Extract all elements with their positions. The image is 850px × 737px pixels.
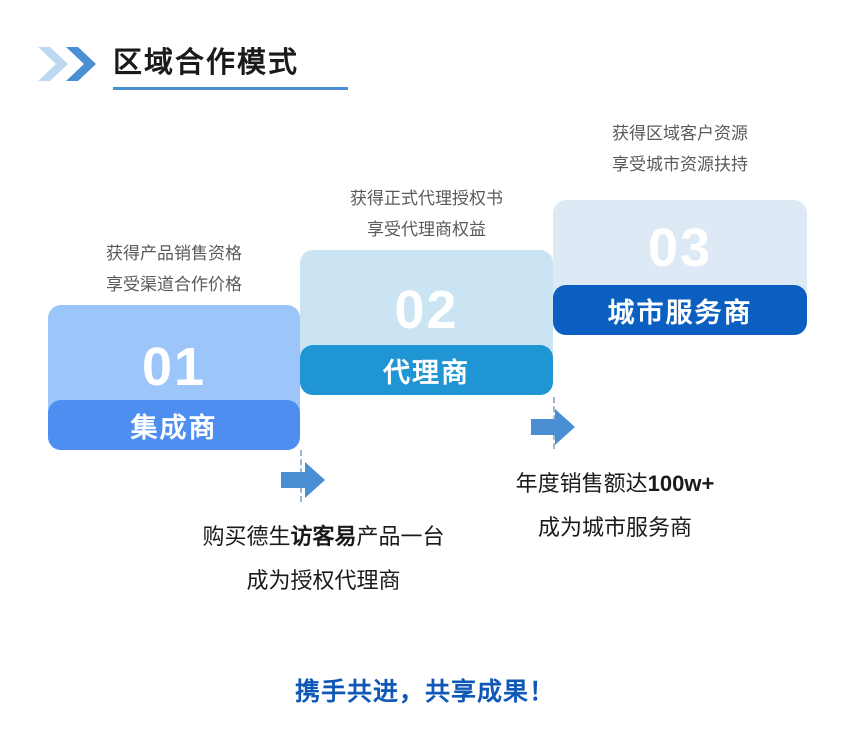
step-role-bar: 城市服务商 [553, 285, 807, 335]
step-card-integrator[interactable]: 01 集成商 [48, 305, 300, 450]
header-chevron-group [36, 45, 110, 83]
step-card-agent[interactable]: 02 代理商 [300, 250, 553, 395]
benefit-line: 享受代理商权益 [300, 214, 553, 245]
benefit-line: 享受渠道合作价格 [48, 269, 300, 300]
step-role-label: 城市服务商 [608, 291, 753, 330]
page-header: 区域合作模式 [0, 0, 850, 110]
transition-description-2: 年度销售额达100w+ 成为城市服务商 [420, 462, 810, 550]
step-role-bar: 集成商 [48, 400, 300, 450]
step-number: 02 [300, 280, 553, 340]
step-card-city-service-provider[interactable]: 03 城市服务商 [553, 200, 807, 335]
transition-line-2: 成为授权代理商 [126, 559, 521, 603]
step-benefits-3: 获得区域客户资源 享受城市资源扶持 [553, 118, 807, 180]
arrow-right-icon [531, 408, 575, 446]
step-role-label: 代理商 [383, 351, 470, 390]
footer-slogan: 携手共进，共享成果！ [0, 672, 850, 708]
benefit-line: 获得区域客户资源 [553, 118, 807, 149]
transition-prefix: 年度销售额达 [516, 471, 648, 496]
step-role-bar: 代理商 [300, 345, 553, 395]
step-benefits-2: 获得正式代理授权书 享受代理商权益 [300, 183, 553, 245]
chevron-right-icon [64, 45, 102, 83]
transition-line-1: 年度销售额达100w+ [420, 462, 810, 506]
transition-emphasis: 访客易 [290, 524, 356, 549]
transition-emphasis: 100w+ [648, 471, 715, 496]
arrow-right-icon [281, 461, 325, 499]
transition-line-2: 成为城市服务商 [420, 506, 810, 550]
step-number: 01 [48, 337, 300, 397]
benefit-line: 获得产品销售资格 [48, 238, 300, 269]
page-title: 区域合作模式 [113, 44, 299, 82]
step-number: 03 [553, 218, 807, 278]
benefit-line: 获得正式代理授权书 [300, 183, 553, 214]
transition-prefix: 购买德生 [202, 524, 290, 549]
title-underline [113, 87, 348, 90]
step-role-label: 集成商 [131, 406, 218, 445]
benefit-line: 享受城市资源扶持 [553, 149, 807, 180]
step-benefits-1: 获得产品销售资格 享受渠道合作价格 [48, 238, 300, 300]
